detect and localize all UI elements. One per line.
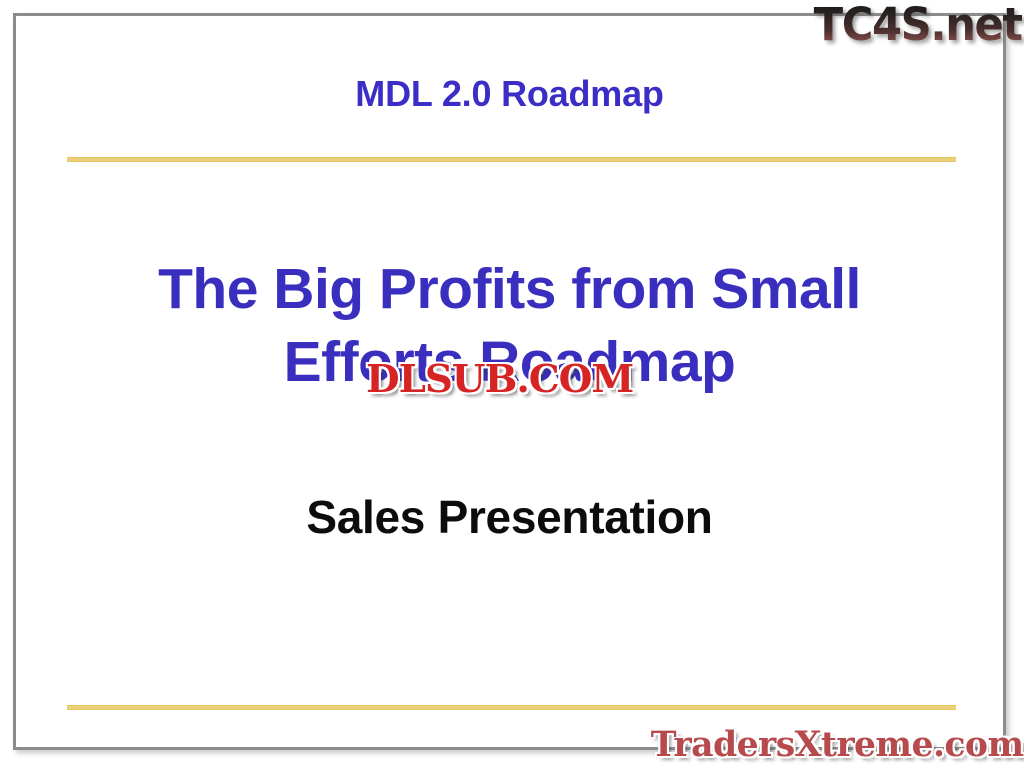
slide-subtitle: Sales Presentation <box>13 490 1006 545</box>
watermark-dlsub: DLSUB.COM <box>366 360 633 398</box>
slide-stage: MDL 2.0 Roadmap The Big Profits from Sma… <box>0 0 1024 768</box>
slide-kicker-heading: MDL 2.0 Roadmap <box>13 75 1006 113</box>
divider-line-bottom <box>67 705 956 710</box>
watermark-tradersxtreme: TradersXtreme.com <box>651 727 1024 762</box>
watermark-tc4s: TC4S.net <box>814 2 1022 47</box>
divider-line-top <box>67 157 956 162</box>
slide-title-line-1: The Big Profits from Small <box>13 253 1006 326</box>
